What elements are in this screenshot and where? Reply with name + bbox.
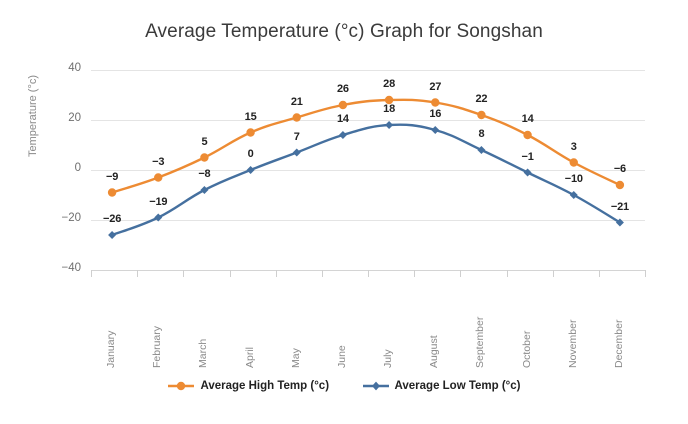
data-label-high: 26 [337, 83, 349, 95]
legend-item-high[interactable]: Average High Temp (°c) [167, 377, 329, 395]
x-tick-mark [460, 270, 461, 277]
data-label-high: 21 [291, 96, 303, 108]
x-tick-mark [645, 270, 646, 277]
x-tick-mark [368, 270, 369, 277]
data-label-low: 16 [429, 108, 441, 120]
x-axis-label-text: February [151, 326, 163, 368]
data-label-low: 14 [337, 113, 349, 125]
x-axis-label-text: August [428, 335, 440, 368]
data-point-marker[interactable] [570, 191, 578, 199]
data-point-marker[interactable] [339, 101, 347, 109]
gridline-20 [91, 120, 645, 121]
x-axis-label-text: January [105, 331, 117, 368]
data-label-high: 3 [571, 141, 577, 153]
x-tick-mark [553, 270, 554, 277]
x-tick-mark [183, 270, 184, 277]
data-point-marker[interactable] [570, 158, 578, 166]
gridline-0 [91, 170, 645, 171]
data-point-marker[interactable] [154, 173, 162, 181]
data-point-marker[interactable] [477, 146, 485, 154]
y-tick-label: 20 [35, 112, 81, 124]
legend-label-high: Average High Temp (°c) [200, 380, 329, 392]
data-label-high: −9 [106, 171, 118, 183]
chart-title: Average Temperature (°c) Graph for Songs… [0, 21, 688, 43]
data-label-low: −19 [149, 196, 167, 208]
data-point-marker[interactable] [431, 98, 439, 106]
x-axis-label-text: October [521, 331, 533, 368]
series-line [112, 100, 620, 193]
data-label-high: −6 [614, 163, 626, 175]
x-axis-label-text: June [336, 345, 348, 368]
data-label-high: 27 [429, 81, 441, 93]
x-axis-label-text: March [197, 339, 209, 368]
x-axis-label-text: May [290, 348, 302, 368]
data-point-marker[interactable] [108, 188, 116, 196]
x-tick-mark [276, 270, 277, 277]
gridline--20 [91, 220, 645, 221]
series-low [108, 121, 624, 239]
x-axis-label-text: September [474, 317, 486, 368]
temperature-line-chart: Average Temperature (°c) Graph for Songs… [0, 0, 688, 424]
x-tick-mark [322, 270, 323, 277]
data-label-high: 22 [475, 93, 487, 105]
data-point-marker[interactable] [293, 149, 301, 157]
series-high [108, 96, 624, 197]
data-label-low: −10 [565, 173, 583, 185]
data-point-marker[interactable] [200, 186, 208, 194]
data-label-low: −26 [103, 213, 121, 225]
y-tick-label: 40 [35, 62, 81, 74]
legend-label-low: Average Low Temp (°c) [395, 380, 521, 392]
x-tick-mark [91, 270, 92, 277]
x-tick-mark [599, 270, 600, 277]
data-label-low: 18 [383, 103, 395, 115]
x-axis-label-text: April [244, 347, 256, 368]
data-point-marker[interactable] [431, 126, 439, 134]
data-label-low: −21 [611, 201, 629, 213]
data-label-low: 8 [478, 128, 484, 140]
data-point-marker[interactable] [523, 131, 531, 139]
data-point-marker[interactable] [108, 231, 116, 239]
data-point-marker[interactable] [477, 111, 485, 119]
y-tick-label: 0 [35, 162, 81, 174]
series-line [112, 125, 620, 235]
data-label-low: −1 [522, 151, 534, 163]
data-point-marker[interactable] [616, 181, 624, 189]
data-point-marker[interactable] [385, 121, 393, 129]
legend-marker-circle-icon [167, 380, 195, 392]
x-axis-label-text: December [613, 320, 625, 368]
data-label-high: 5 [201, 136, 207, 148]
data-label-high: 14 [522, 113, 534, 125]
data-point-marker[interactable] [246, 128, 254, 136]
data-label-low: 0 [248, 148, 254, 160]
legend-marker-diamond-icon [362, 380, 390, 392]
x-axis-label-text: July [382, 349, 394, 368]
data-label-high: 15 [245, 111, 257, 123]
data-label-low: −8 [198, 168, 210, 180]
data-label-high: −3 [152, 156, 164, 168]
data-point-marker[interactable] [339, 131, 347, 139]
x-tick-mark [507, 270, 508, 277]
y-tick-label: −20 [35, 212, 81, 224]
y-tick-label: −40 [35, 262, 81, 274]
data-point-marker[interactable] [200, 153, 208, 161]
chart-legend: Average High Temp (°c) Average Low Temp … [0, 377, 688, 395]
x-axis-label-text: November [567, 320, 579, 368]
x-tick-mark [137, 270, 138, 277]
data-label-high: 28 [383, 78, 395, 90]
data-label-low: 7 [294, 131, 300, 143]
gridline-40 [91, 70, 645, 71]
legend-item-low[interactable]: Average Low Temp (°c) [362, 377, 521, 395]
x-tick-mark [230, 270, 231, 277]
x-tick-mark [414, 270, 415, 277]
